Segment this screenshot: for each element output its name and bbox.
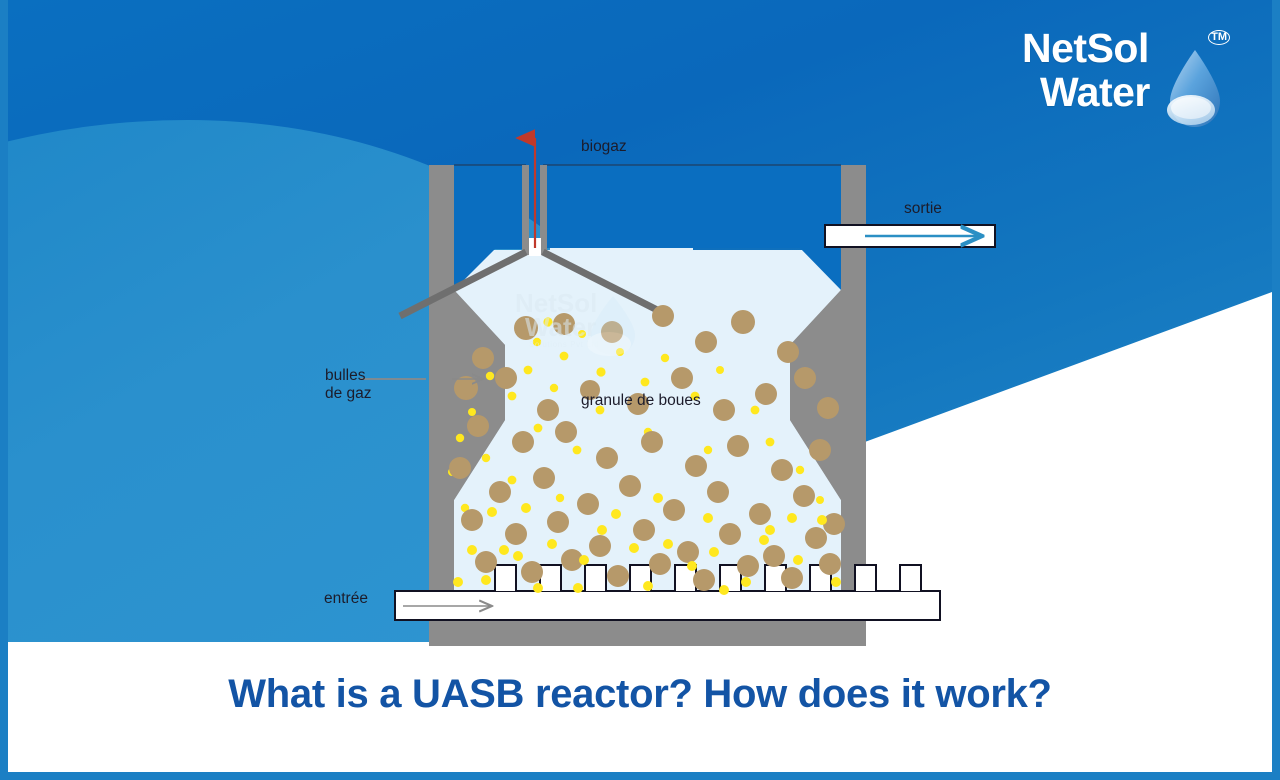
- netsol-water-logo: NetSol Water TM: [1022, 22, 1232, 132]
- label-entree: entrée: [324, 590, 368, 608]
- logo-line-water: Water: [1040, 72, 1150, 113]
- infographic-canvas: NetSol Water TM: [0, 0, 1280, 780]
- trademark-label: TM: [1208, 30, 1230, 45]
- trademark-icon: TM: [1208, 28, 1230, 45]
- water-droplet-icon: [1166, 48, 1224, 130]
- logo-line-netsol: NetSol: [1022, 28, 1149, 69]
- label-bulles-de-gaz: bulles de gaz: [325, 367, 372, 403]
- outlet-pipe: [825, 225, 995, 247]
- page-title: What is a UASB reactor? How does it work…: [0, 672, 1280, 717]
- label-biogaz: biogaz: [581, 138, 627, 156]
- label-sortie: sortie: [904, 200, 942, 218]
- uasb-reactor-diagram: biogaz sortie bulles de gaz granule de b…: [300, 120, 1020, 660]
- label-granule-de-boues: granule de boues: [581, 392, 701, 410]
